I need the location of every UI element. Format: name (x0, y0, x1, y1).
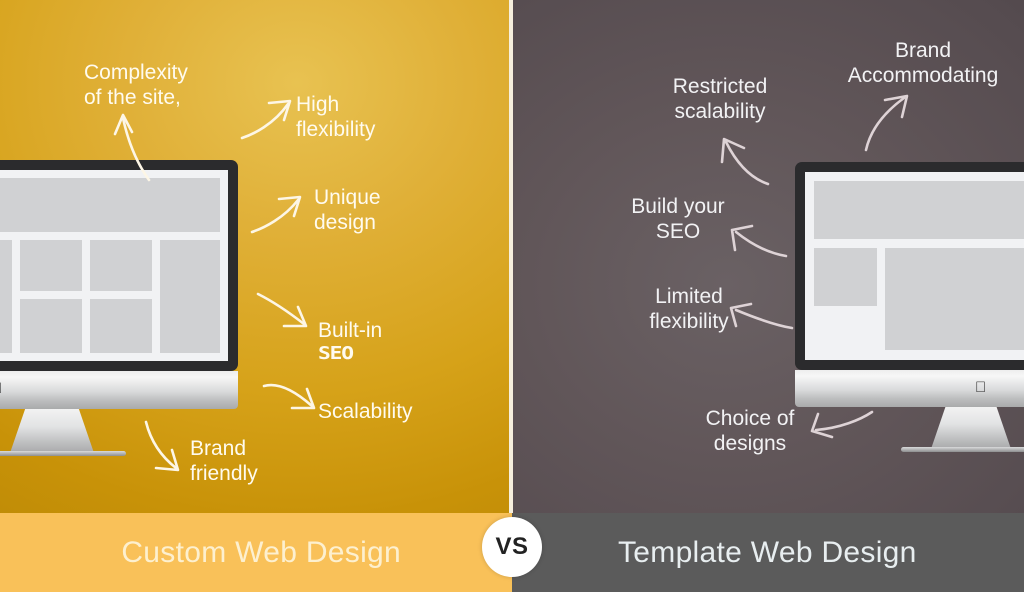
callout-built-in-seo: Built-in SEO (318, 293, 468, 390)
callout-complexity: Complexity of the site, (84, 60, 234, 110)
callout-choice-of-designs: Choice of designs (690, 406, 810, 456)
imac-custom:  (0, 160, 248, 460)
callout-brand-friendly: Brand friendly (190, 436, 320, 486)
imac-chin (0, 371, 238, 409)
seo-badge: SEO (318, 343, 495, 365)
callout-built-in-seo-text: Built-in (318, 319, 382, 342)
wireframe-sidebar (814, 248, 877, 306)
footer-custom-web-design: Custom Web Design (0, 513, 512, 592)
apple-logo-icon:  (975, 380, 988, 395)
wireframe-cell-4 (90, 299, 152, 353)
wireframe-content (885, 248, 1024, 350)
callout-build-your-seo: Build your SEO (616, 194, 740, 244)
imac-base (0, 451, 126, 456)
arrow-to-brand-friendly (140, 418, 190, 474)
infographic-root:  Complexity of (0, 0, 1024, 592)
callout-high-flexibility: High flexibility (296, 92, 436, 142)
callout-scalability: Scalability (318, 399, 488, 424)
callout-brand-accommodating: Brand Accommodating (818, 38, 1024, 88)
imac-stand (10, 409, 94, 453)
footer-template-web-design: Template Web Design (512, 513, 1024, 592)
footer-label-custom: Custom Web Design (121, 536, 512, 570)
wireframe-sidebar-right (160, 240, 220, 353)
arrow-to-choice-of-designs (808, 404, 876, 440)
arrow-to-scalability (262, 378, 320, 416)
panel-divider (509, 0, 513, 513)
wireframe-cell-1 (20, 240, 82, 291)
arrow-to-unique-design (250, 192, 306, 236)
arrow-to-complexity (105, 110, 161, 182)
panel-template-web-design:  Brand Accommodating Restricted sca (512, 0, 1024, 592)
wireframe-cell-3 (20, 299, 82, 353)
wireframe-cell-2 (90, 240, 152, 291)
wireframe-sidebar-left (0, 240, 12, 353)
arrow-to-high-flexibility (240, 96, 296, 142)
apple-logo-icon:  (0, 381, 4, 396)
arrow-to-built-in-seo (256, 288, 312, 332)
imac-screen (805, 172, 1024, 360)
imac-base (901, 447, 1024, 452)
callout-limited-flexibility: Limited flexibility (628, 284, 750, 334)
imac-stand (931, 407, 1011, 449)
arrow-to-brand-accommodating (860, 92, 914, 152)
imac-chin (795, 370, 1024, 407)
vs-badge: VS (482, 517, 542, 577)
footer-label-template: Template Web Design (512, 536, 917, 570)
vs-badge-label: VS (495, 533, 528, 561)
callout-restricted-scalability: Restricted scalability (650, 74, 790, 124)
imac-screen (0, 170, 228, 361)
panel-custom-web-design:  Complexity of (0, 0, 512, 592)
callout-unique-design: Unique design (314, 185, 454, 235)
wireframe-header (814, 181, 1024, 239)
arrow-to-restricted-scalability (718, 132, 772, 188)
wireframe-header (0, 178, 220, 232)
